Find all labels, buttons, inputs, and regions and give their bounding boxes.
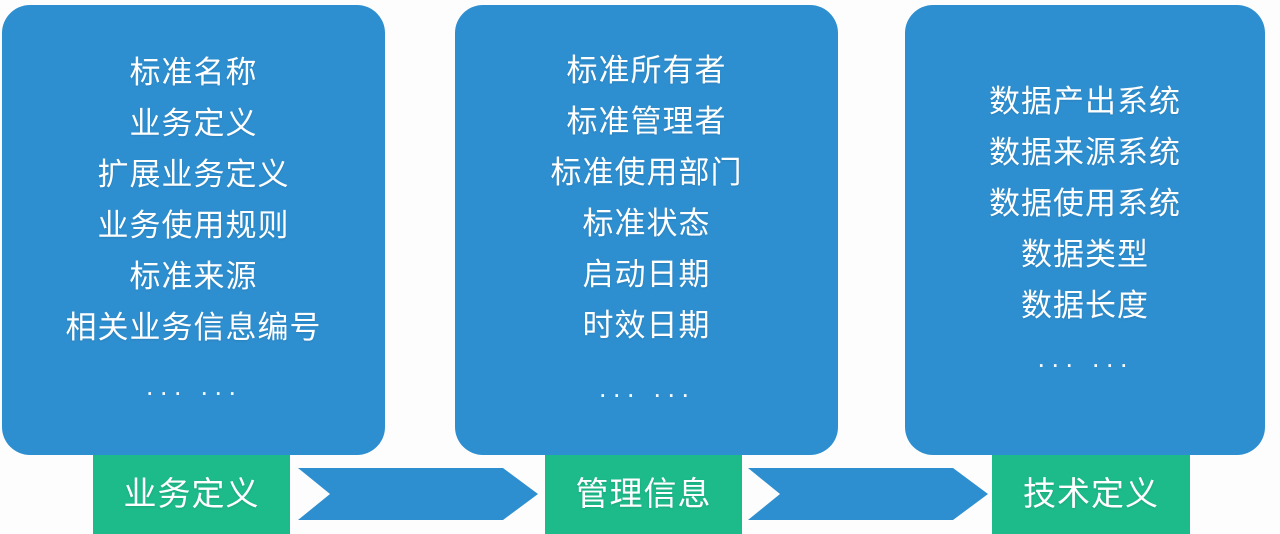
attribute-item: 数据长度 (1021, 280, 1149, 331)
attribute-item: 数据来源系统 (989, 127, 1181, 178)
attribute-item: 相关业务信息编号 (66, 302, 322, 353)
attribute-item: 标准管理者 (567, 96, 727, 147)
attribute-ellipsis: ··· ··· (1037, 347, 1133, 381)
attribute-item: 时效日期 (583, 300, 711, 351)
attribute-ellipsis: ··· ··· (598, 377, 694, 411)
attribute-item: 启动日期 (583, 249, 711, 300)
arrow-business-to-management (298, 468, 538, 520)
stage-bar-technical: 技术定义 (992, 455, 1190, 534)
attribute-item: 业务使用规则 (98, 200, 290, 251)
attribute-item: 数据类型 (1021, 229, 1149, 280)
stage-label: 管理信息 (576, 467, 712, 523)
diagram-canvas: 标准名称 业务定义 扩展业务定义 业务使用规则 标准来源 相关业务信息编号 ··… (0, 0, 1280, 534)
attribute-item: 业务定义 (130, 98, 258, 149)
attribute-list-technical: 数据产出系统 数据来源系统 数据使用系统 数据类型 数据长度 (989, 76, 1181, 331)
stage-bar-business: 业务定义 (93, 455, 290, 534)
attribute-item: 数据产出系统 (989, 76, 1181, 127)
attribute-ellipsis: ··· ··· (145, 375, 241, 409)
attribute-item: 数据使用系统 (989, 178, 1181, 229)
chevron-arrow-icon (748, 468, 988, 520)
attribute-panel-business: 标准名称 业务定义 扩展业务定义 业务使用规则 标准来源 相关业务信息编号 ··… (2, 5, 385, 455)
attribute-item: 标准名称 (130, 47, 258, 98)
attribute-list-business: 标准名称 业务定义 扩展业务定义 业务使用规则 标准来源 相关业务信息编号 (66, 47, 322, 353)
attribute-item: 扩展业务定义 (98, 149, 290, 200)
attribute-list-management: 标准所有者 标准管理者 标准使用部门 标准状态 启动日期 时效日期 (551, 45, 743, 351)
chevron-arrow-icon (298, 468, 538, 520)
arrow-management-to-technical (748, 468, 988, 520)
attribute-item: 标准来源 (130, 251, 258, 302)
attribute-item: 标准所有者 (567, 45, 727, 96)
attribute-item: 标准状态 (583, 198, 711, 249)
attribute-item: 标准使用部门 (551, 147, 743, 198)
attribute-panel-management: 标准所有者 标准管理者 标准使用部门 标准状态 启动日期 时效日期 ··· ··… (455, 5, 838, 455)
stage-label: 业务定义 (124, 467, 260, 523)
attribute-panel-technical: 数据产出系统 数据来源系统 数据使用系统 数据类型 数据长度 ··· ··· (905, 5, 1265, 455)
stage-label: 技术定义 (1023, 467, 1159, 523)
stage-bar-management: 管理信息 (545, 455, 742, 534)
